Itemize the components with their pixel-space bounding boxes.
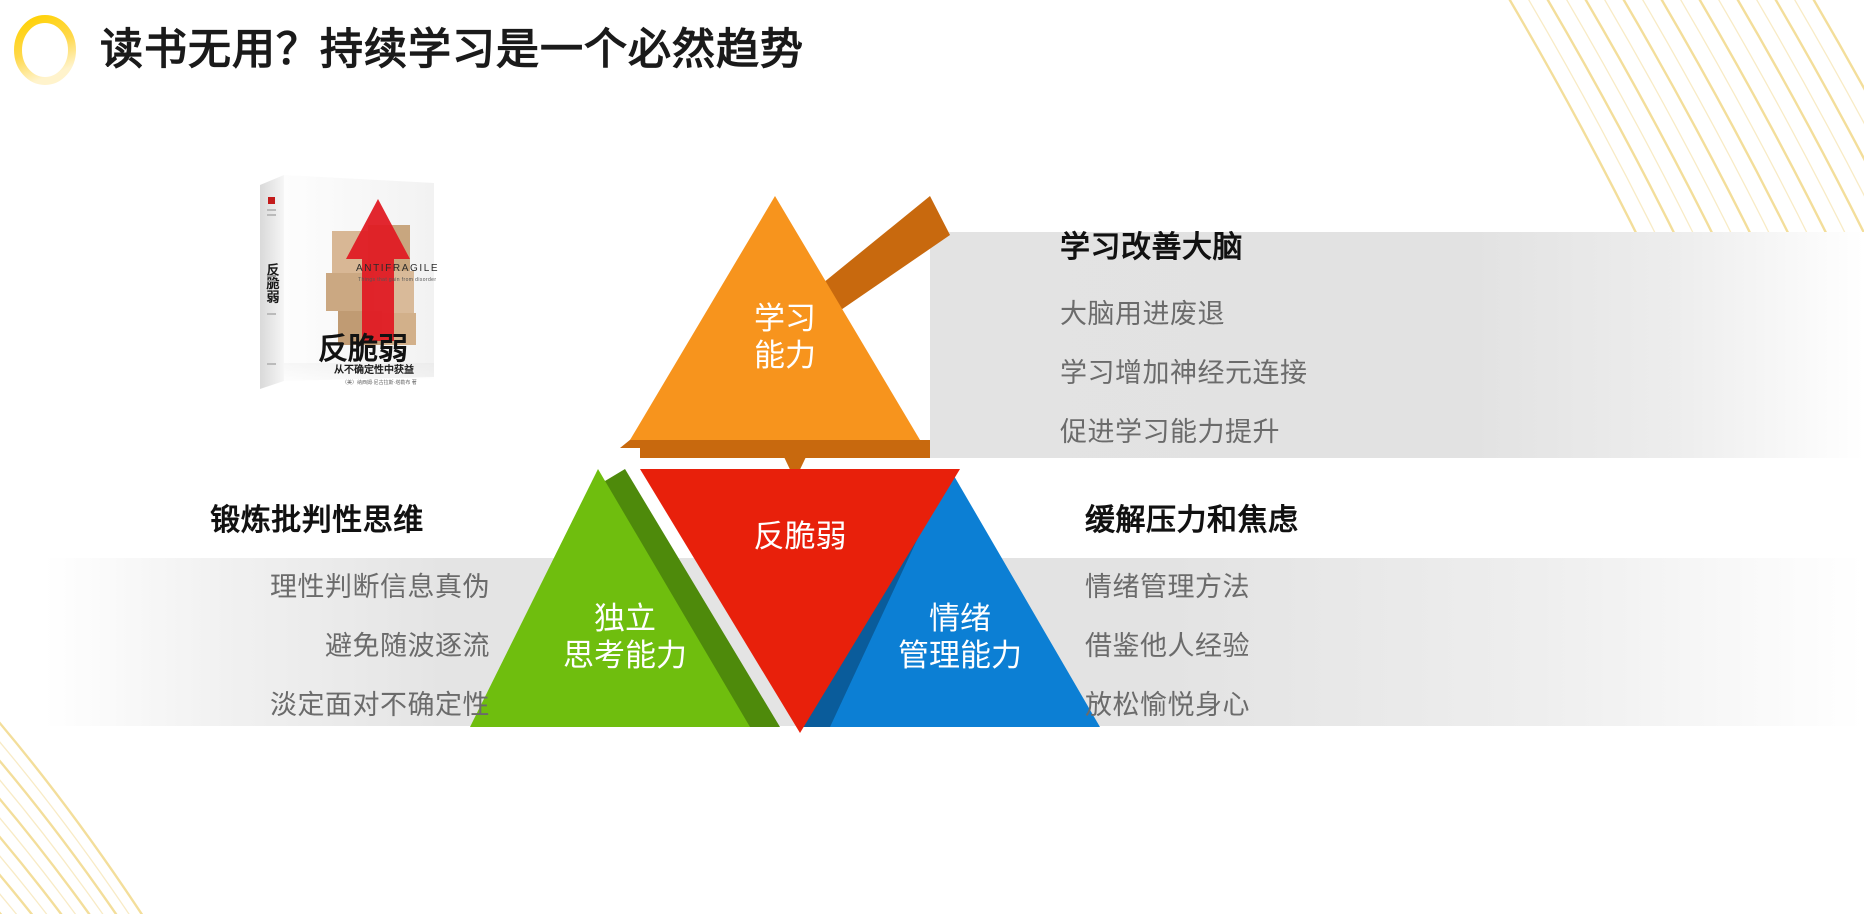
panel-heading: 锻炼批判性思维: [150, 495, 490, 539]
page-title: 读书无用？持续学习是一个必然趋势: [100, 29, 804, 72]
panel-line: 借鉴他人经验: [1085, 624, 1515, 663]
panel-line: 学习增加神经元连接: [1060, 351, 1490, 390]
svg-text:ANTIFRAGILE: ANTIFRAGILE: [356, 263, 439, 274]
ring-icon: [12, 14, 78, 86]
slide-canvas: 读书无用？持续学习是一个必然趋势 反脆弱: [0, 0, 1864, 914]
panel-line: 淡定面对不确定性: [150, 683, 490, 722]
triangle-learning-ability[interactable]: [620, 190, 950, 510]
panel-line: 促进学习能力提升: [1060, 410, 1490, 449]
svg-text:Things that gain from disorder: Things that gain from disorder: [358, 277, 436, 283]
panel-line: 情绪管理方法: [1085, 565, 1515, 604]
panel-learning-improves-brain: 学习改善大脑 大脑用进废退 学习增加神经元连接 促进学习能力提升: [1060, 222, 1490, 469]
panel-line: 放松愉悦身心: [1085, 683, 1515, 722]
book-cover-image: 反脆弱 ANTIFRAGILE Things that gain from di…: [258, 163, 458, 393]
panel-critical-thinking: 锻炼批判性思维 理性判断信息真伪 避免随波逐流 淡定面对不确定性: [150, 495, 490, 742]
title-bar: 读书无用？持续学习是一个必然趋势: [0, 0, 804, 100]
triangle-antifragile-core[interactable]: [640, 465, 960, 735]
panel-line: 大脑用进废退: [1060, 292, 1490, 331]
svg-text:反脆弱: 反脆弱: [318, 332, 408, 366]
svg-text:反脆弱: 反脆弱: [265, 262, 281, 304]
panel-line: 理性判断信息真伪: [150, 565, 490, 604]
panel-heading: 缓解压力和焦虑: [1085, 495, 1515, 539]
panel-stress-relief: 缓解压力和焦虑 情绪管理方法 借鉴他人经验 放松愉悦身心: [1085, 495, 1515, 742]
panel-heading: 学习改善大脑: [1060, 222, 1490, 266]
panel-line: 避免随波逐流: [150, 624, 490, 663]
